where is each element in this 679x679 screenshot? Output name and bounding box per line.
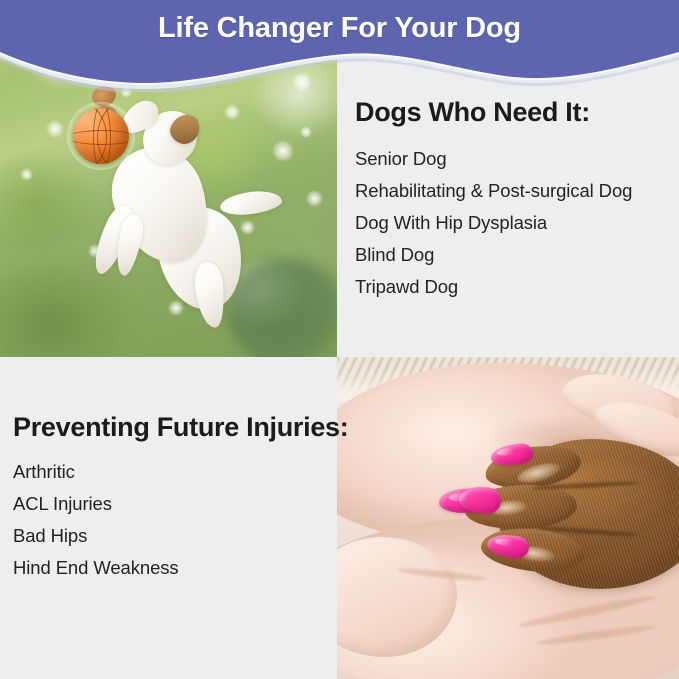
text-panel-preventing-future-injuries [0, 357, 337, 679]
infographic-root: Dogs Who Need It: Senior Dog Rehabilitat… [0, 0, 679, 679]
basketball [73, 108, 129, 164]
bokeh-sparkle [46, 120, 64, 138]
dog-tail [219, 188, 283, 218]
paw-with-nail-caps-photo [337, 357, 679, 679]
dog-paw [445, 439, 679, 597]
photo-panel-jumping-dog [0, 0, 337, 357]
bokeh-sparkle [256, 36, 282, 62]
bokeh-sparkle [20, 168, 33, 181]
bokeh-sparkle [292, 72, 312, 92]
text-panel-dogs-who-need-it [337, 0, 679, 357]
basketball-seam [97, 108, 129, 164]
bokeh-sparkle [306, 190, 323, 207]
jumping-dog-photo [0, 0, 337, 357]
bokeh-sparkle [300, 126, 312, 138]
photo-panel-paw-nail-caps [337, 357, 679, 679]
bokeh-sparkle [196, 52, 210, 66]
